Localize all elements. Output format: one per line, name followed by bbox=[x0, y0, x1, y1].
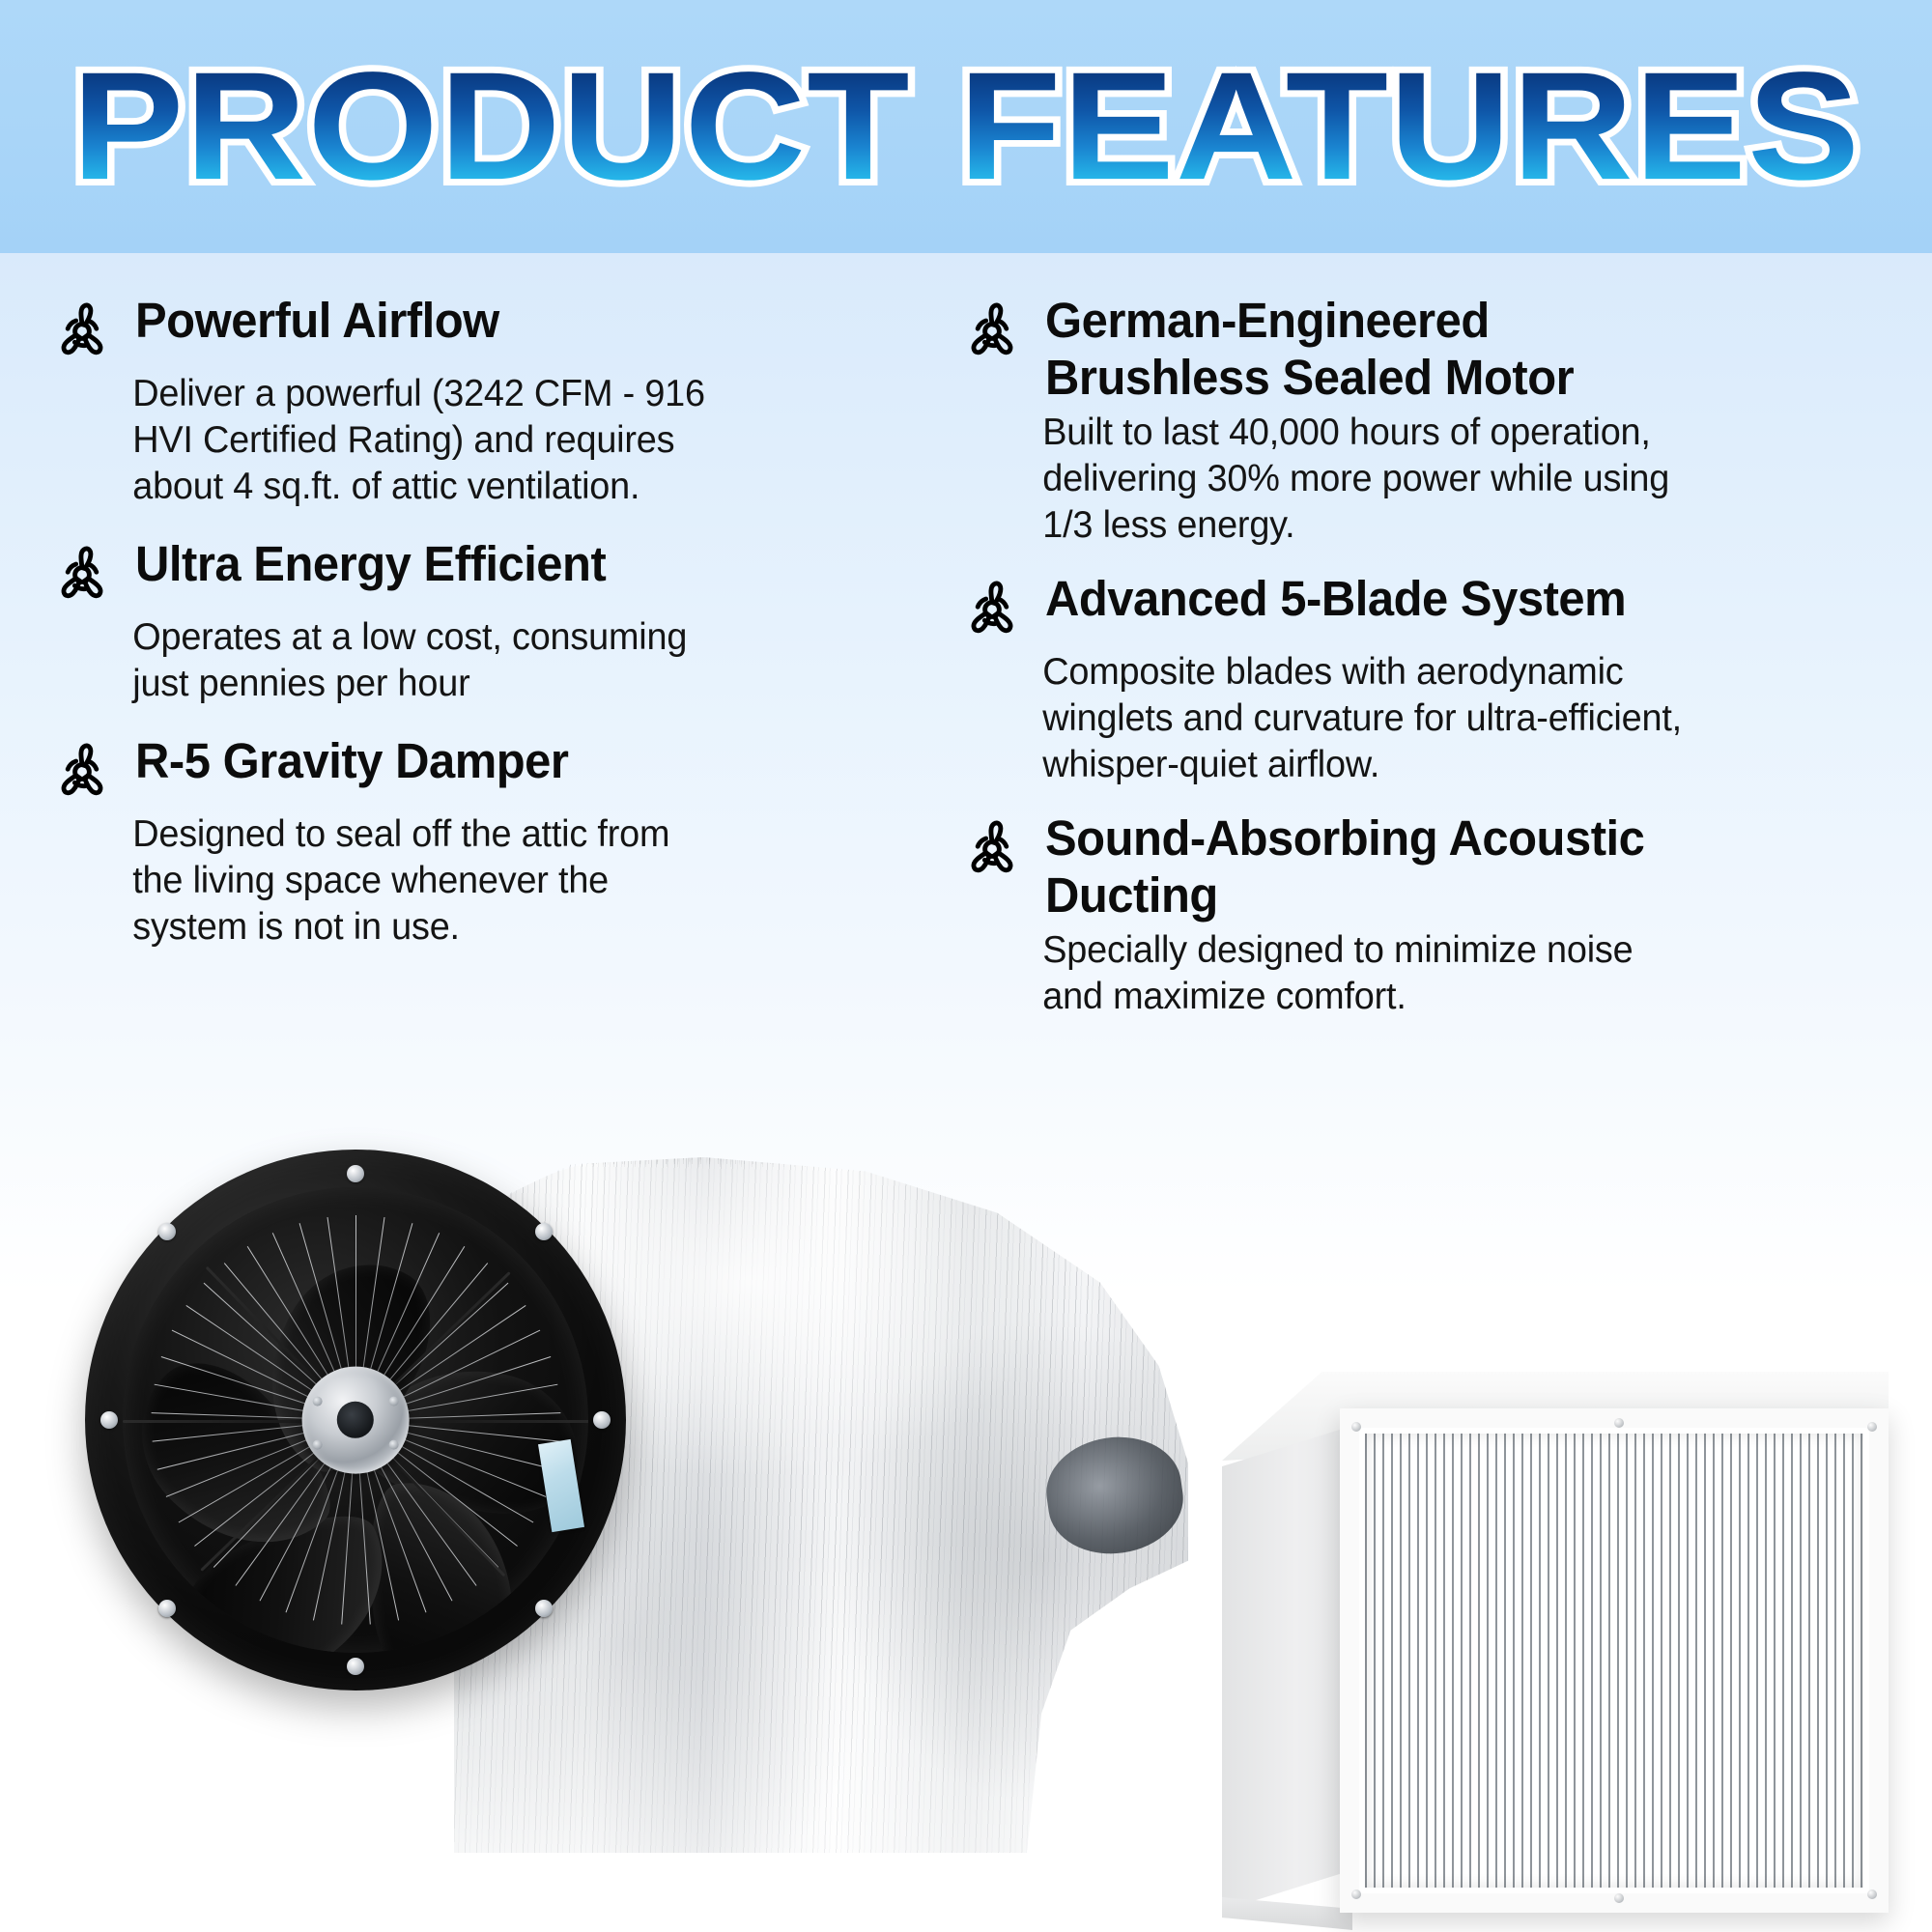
fan-hub bbox=[302, 1367, 410, 1474]
fan-icon bbox=[46, 539, 118, 611]
feature-description: Deliver a powerful (3242 CFM - 916 HVI C… bbox=[46, 371, 890, 510]
fan-icon bbox=[46, 296, 118, 367]
fan-icon bbox=[956, 813, 1028, 885]
fan-mount-hole bbox=[347, 1165, 364, 1182]
feature-description: Specially designed to minimize noise and… bbox=[956, 927, 1856, 1020]
grille-screw bbox=[1867, 1889, 1877, 1899]
feature-header: German-Engineered Brushless Sealed Motor bbox=[956, 290, 1884, 406]
fan-mount-hole bbox=[158, 1600, 176, 1617]
grille-mesh bbox=[1365, 1434, 1863, 1888]
fan-icon bbox=[46, 736, 118, 808]
grille-box-side bbox=[1222, 1428, 1346, 1911]
feature-description: Built to last 40,000 hours of operation,… bbox=[956, 410, 1856, 549]
feature-title: R-5 Gravity Damper bbox=[135, 730, 569, 789]
fan-icon bbox=[956, 296, 1028, 367]
grille-screw bbox=[1867, 1422, 1877, 1432]
feature-title: Powerful Airflow bbox=[135, 290, 499, 349]
fan-mount-hole bbox=[535, 1223, 553, 1240]
fan-mount-hole bbox=[347, 1658, 364, 1675]
features-column-left: Powerful Airflow Deliver a powerful (324… bbox=[46, 290, 916, 974]
product-photo bbox=[0, 1130, 1932, 1932]
fan-mount-hole bbox=[100, 1411, 118, 1429]
feature-ultra-energy-efficient: Ultra Energy Efficient Operates at a low… bbox=[46, 533, 916, 707]
feature-header: Advanced 5-Blade System bbox=[956, 568, 1884, 645]
fan-mount-hole bbox=[158, 1223, 176, 1240]
fan-icon bbox=[956, 574, 1028, 645]
page-title-text: PRODUCT FEATURES bbox=[71, 49, 1861, 203]
feature-header: R-5 Gravity Damper bbox=[46, 730, 916, 808]
feature-header: Ultra Energy Efficient bbox=[46, 533, 916, 611]
feature-r5-gravity-damper: R-5 Gravity Damper Designed to seal off … bbox=[46, 730, 916, 951]
feature-title: German-Engineered Brushless Sealed Motor bbox=[1045, 290, 1574, 406]
fan-blade-area bbox=[123, 1187, 588, 1653]
infographic-page: PRODUCT FEATURES PRODUCT FEATURES bbox=[0, 0, 1932, 1932]
vent-grille-box bbox=[1222, 1372, 1889, 1922]
feature-description: Designed to seal off the attic from the … bbox=[46, 811, 890, 951]
grille-screw bbox=[1614, 1418, 1624, 1428]
grille-screw bbox=[1351, 1889, 1361, 1899]
grille-box-bottom bbox=[1222, 1897, 1352, 1930]
feature-german-engineered-motor: German-Engineered Brushless Sealed Motor… bbox=[956, 290, 1884, 549]
fan-mount-hole bbox=[535, 1600, 553, 1617]
grille-face bbox=[1340, 1408, 1889, 1913]
feature-sound-absorbing-ducting: Sound-Absorbing Acoustic Ducting Special… bbox=[956, 808, 1884, 1020]
feature-title: Sound-Absorbing Acoustic Ducting bbox=[1045, 808, 1644, 923]
feature-advanced-5-blade-system: Advanced 5-Blade System Composite blades… bbox=[956, 568, 1884, 788]
feature-description: Operates at a low cost, consuming just p… bbox=[46, 614, 890, 707]
fan-hub-center bbox=[337, 1402, 374, 1438]
feature-powerful-airflow: Powerful Airflow Deliver a powerful (324… bbox=[46, 290, 916, 510]
grille-screw bbox=[1614, 1893, 1624, 1903]
grille-screw bbox=[1351, 1422, 1361, 1432]
feature-description: Composite blades with aerodynamic wingle… bbox=[956, 649, 1856, 788]
fan-mount-hole bbox=[593, 1411, 611, 1429]
feature-title: Ultra Energy Efficient bbox=[135, 533, 606, 592]
axial-fan bbox=[85, 1150, 626, 1690]
feature-header: Sound-Absorbing Acoustic Ducting bbox=[956, 808, 1884, 923]
features-section: Powerful Airflow Deliver a powerful (324… bbox=[0, 290, 1932, 1159]
page-title: PRODUCT FEATURES PRODUCT FEATURES bbox=[0, 39, 1932, 213]
features-column-right: German-Engineered Brushless Sealed Motor… bbox=[956, 290, 1884, 1039]
feature-header: Powerful Airflow bbox=[46, 290, 916, 367]
feature-title: Advanced 5-Blade System bbox=[1045, 568, 1626, 627]
